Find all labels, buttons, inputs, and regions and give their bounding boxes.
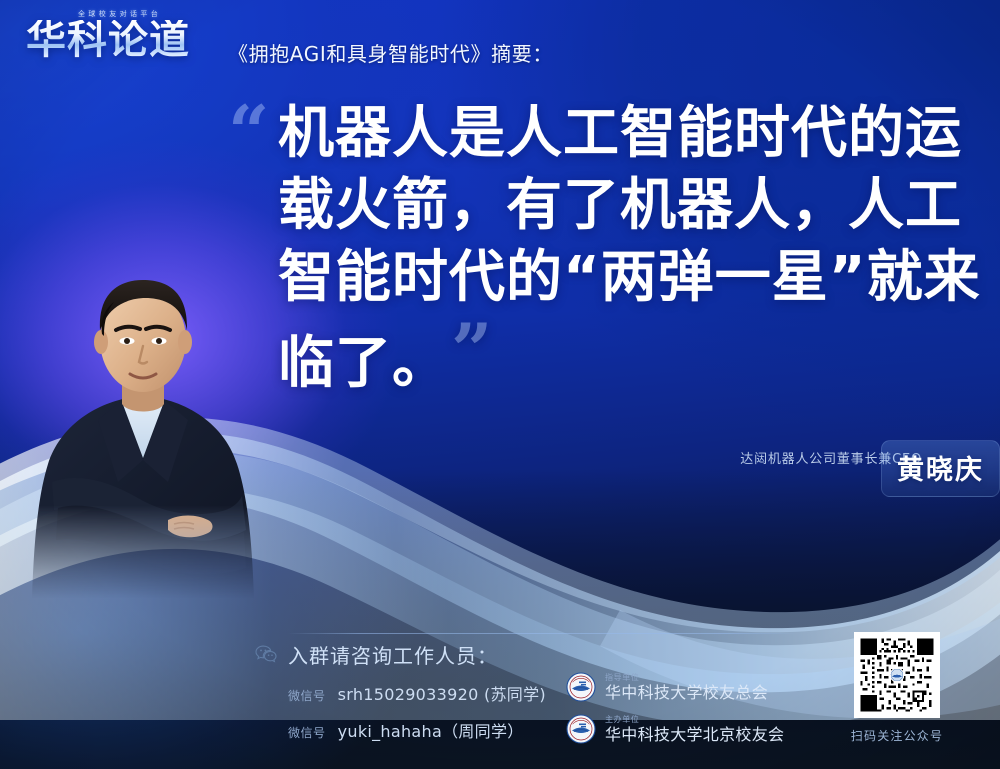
quote-open-mark: “	[228, 96, 269, 168]
organization-row: 指导单位 华中科技大学校友总会	[566, 668, 784, 706]
poster-header: 全球校友对话平台 华科论道 《拥抱AGI和具身智能时代》摘要：	[0, 0, 1000, 92]
organization-name: 华中科技大学校友总会	[605, 685, 768, 701]
quote-line: 智能时代的“两弹一星”就来	[278, 242, 958, 314]
organization-kicker: 主办单位	[605, 716, 784, 724]
brand-logo[interactable]: 全球校友对话平台 华科论道	[26, 9, 218, 69]
quote-close-mark: ”	[451, 314, 493, 386]
hust-emblem-icon	[566, 672, 596, 702]
organization-row: 主办单位 华中科技大学北京校友会	[566, 710, 784, 748]
hust-emblem-icon	[566, 714, 596, 744]
contact-value[interactable]: srh15029033920 (苏同学)	[338, 685, 546, 704]
contact-label: 微信号	[288, 689, 326, 703]
speaker-name-badge: 黄晓庆	[881, 440, 1000, 497]
qr-section: 扫码关注公众号	[845, 632, 949, 744]
organizations: 指导单位 华中科技大学校友总会 主办单位 华中科技大学北京校友会	[566, 668, 784, 752]
contact-row: 微信号 srh15029033920 (苏同学)	[288, 681, 546, 705]
quote-line: 载火箭，有了机器人，人工	[278, 170, 958, 242]
wechat-icon	[255, 645, 277, 663]
organization-kicker: 指导单位	[605, 674, 768, 682]
footer-divider	[288, 633, 800, 634]
footer-title: 入群请咨询工作人员：	[288, 640, 498, 669]
quote-text: 机器人是人工智能时代的运 载火箭，有了机器人，人工 智能时代的“两弹一星”就来 …	[278, 98, 958, 400]
contact-label: 微信号	[288, 726, 326, 740]
quote-line-last: 临了。 ”	[278, 314, 958, 400]
organization-text: 指导单位 华中科技大学校友总会	[605, 674, 768, 701]
organization-text: 主办单位 华中科技大学北京校友会	[605, 716, 784, 743]
contact-row: 微信号 yuki_hahaha（周同学）	[288, 718, 524, 742]
qr-code-icon[interactable]	[854, 632, 940, 718]
contact-value[interactable]: yuki_hahaha（周同学）	[338, 722, 524, 741]
speaker-name: 黄晓庆	[897, 455, 984, 486]
poster-canvas: 全球校友对话平台 华科论道 《拥抱AGI和具身智能时代》摘要： “ 机器人是人工…	[0, 0, 1000, 769]
logo-wordmark: 华科论道	[26, 20, 190, 60]
quote-line: 机器人是人工智能时代的运	[278, 98, 958, 170]
organization-name: 华中科技大学北京校友会	[605, 727, 784, 743]
qr-caption: 扫码关注公众号	[845, 727, 949, 744]
quote-line: 临了。	[278, 328, 449, 400]
page-title: 《拥抱AGI和具身智能时代》摘要：	[228, 38, 553, 67]
